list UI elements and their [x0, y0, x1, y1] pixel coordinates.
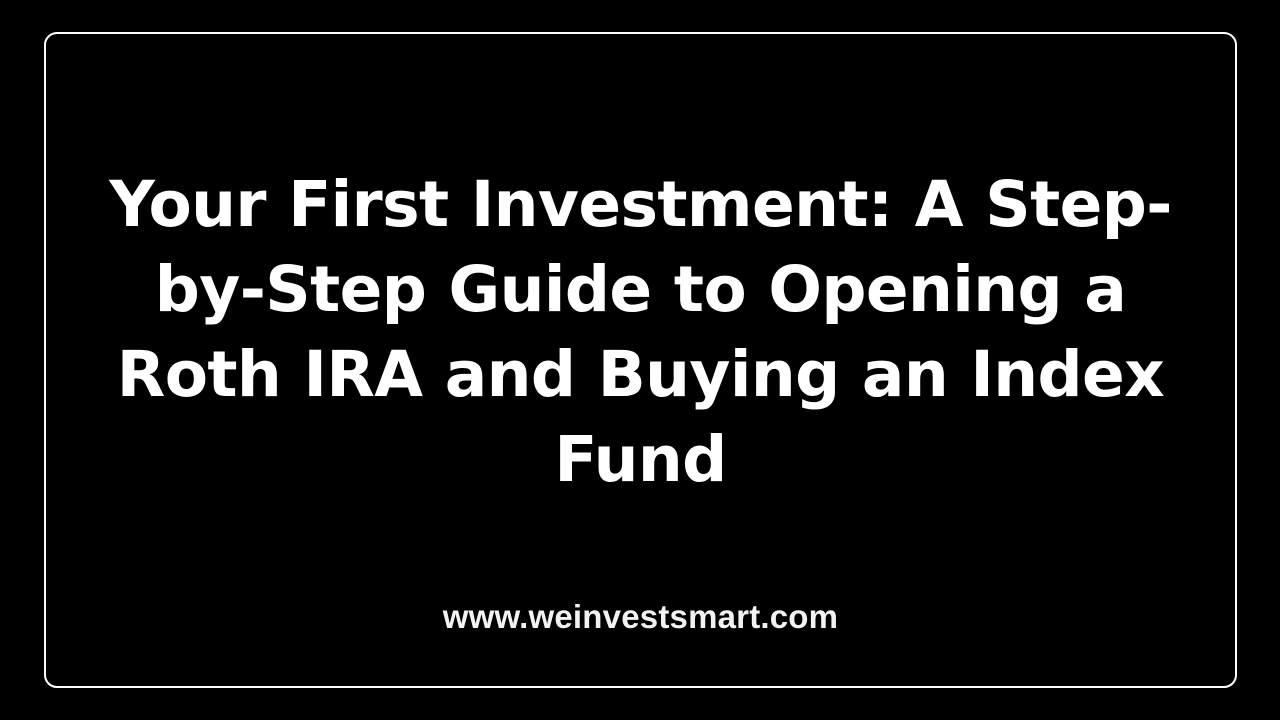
title-block: Your First Investment: A Step-by-Step Gu… — [62, 162, 1219, 502]
card-content: Your First Investment: A Step-by-Step Gu… — [44, 32, 1237, 688]
url-block: www.weinvestsmart.com — [62, 597, 1219, 637]
card-title: Your First Investment: A Step-by-Step Gu… — [62, 162, 1219, 502]
website-url: www.weinvestsmart.com — [62, 597, 1219, 637]
title-card: Your First Investment: A Step-by-Step Gu… — [0, 0, 1280, 720]
